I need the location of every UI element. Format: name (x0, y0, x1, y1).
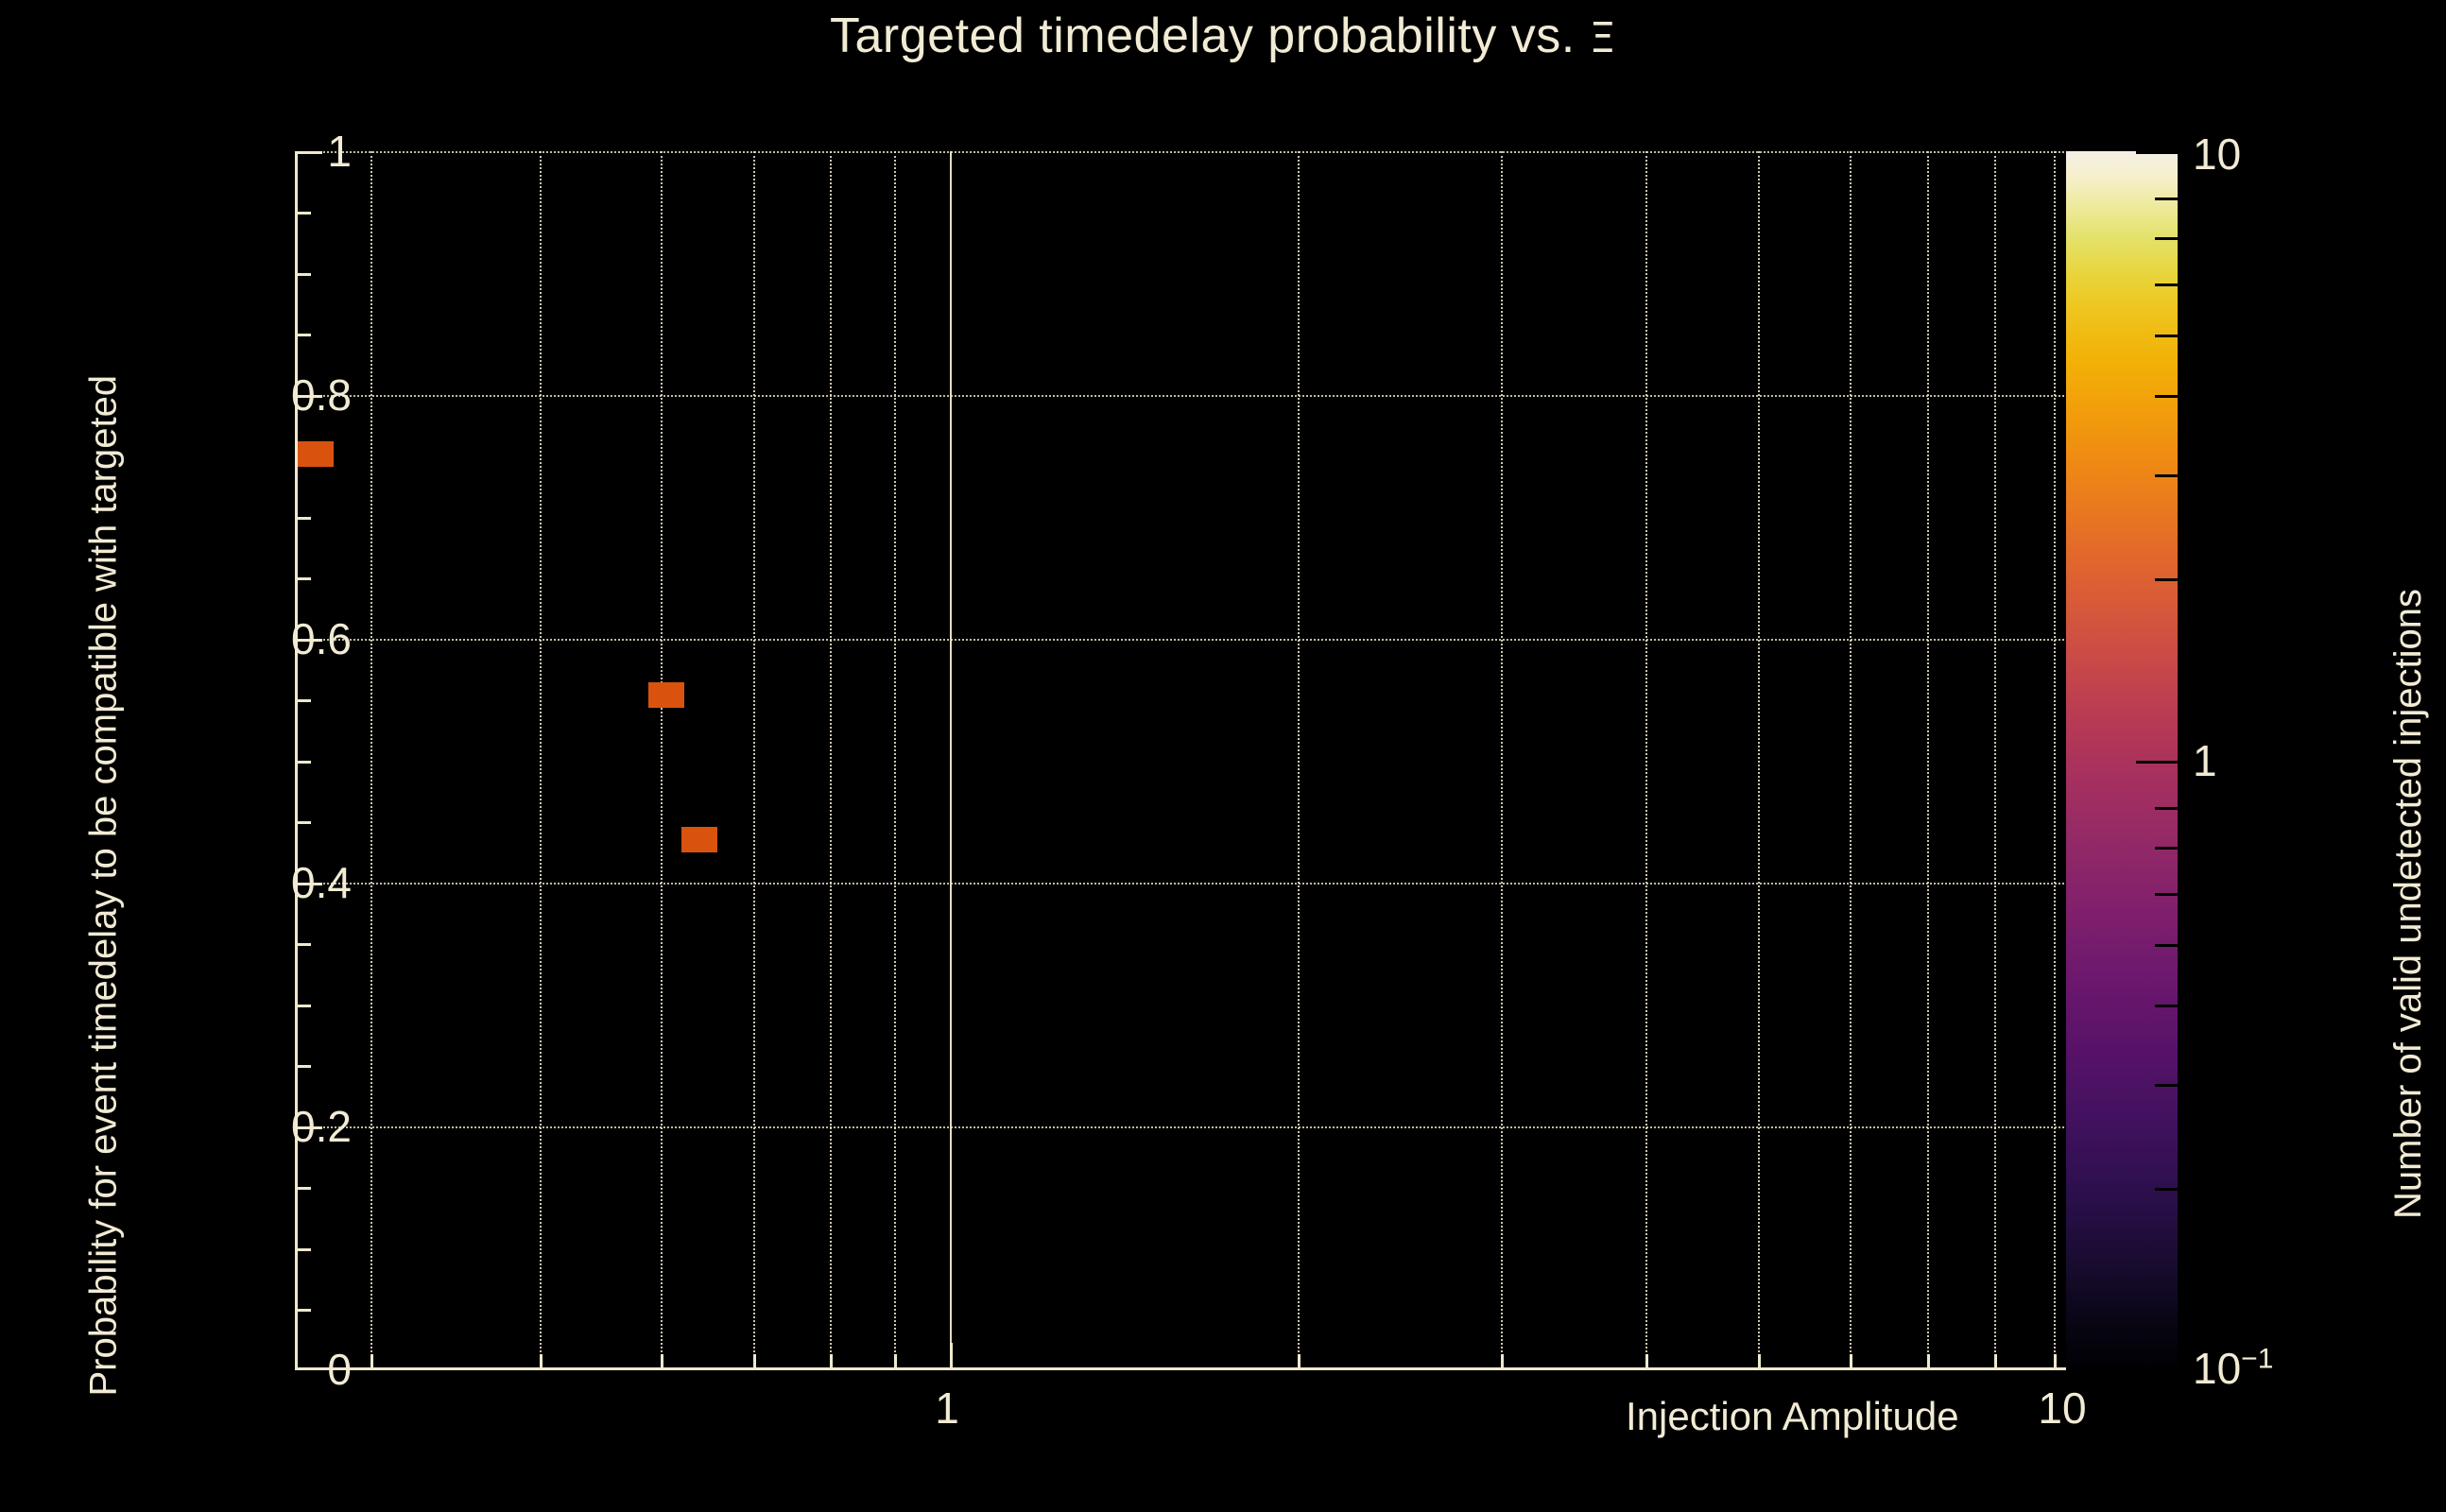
tick-y-minor (298, 699, 311, 702)
x-tick-label: 1 (935, 1383, 959, 1434)
colorbar-tick-minor (2155, 335, 2178, 337)
tick-y-minor (298, 821, 311, 824)
colorbar-tick-label: 1 (2193, 735, 2217, 786)
tick-x-minor (830, 1354, 833, 1367)
plot-frame (295, 151, 2079, 1370)
tick-x-minor (1501, 1354, 1504, 1367)
colorbar-tick-minor (2155, 198, 2178, 200)
colorbar-tick-minor (2155, 283, 2178, 286)
plot-canvas: Targeted timedelay probability vs. Ξ (0, 0, 2446, 1512)
tick-y-minor (298, 761, 311, 764)
gridline-y (298, 151, 2079, 153)
tick-x-minor (894, 1354, 897, 1367)
colorbar-tick-minor (2155, 944, 2178, 947)
tick-x-minor (2054, 1354, 2057, 1367)
y-tick-label: 1 (327, 126, 352, 177)
y-axis-title: Probability for event timedelay to be co… (79, 151, 129, 1370)
gridline-y (298, 639, 2079, 641)
gridline-x (661, 151, 663, 1367)
gridline-y (298, 395, 2079, 397)
y-tick-label: 0.8 (291, 369, 352, 421)
tick-x-minor (1298, 1354, 1301, 1367)
y-axis-title-text: Probability for event timedelay to be co… (83, 584, 126, 1397)
tick-y-minor (298, 1187, 311, 1190)
colorbar-tick-label-exponent: −1 (2241, 1344, 2273, 1375)
gridline-x (894, 151, 896, 1367)
tick-y-minor (298, 1309, 311, 1312)
y-tick-label: 0 (327, 1344, 352, 1395)
gridline-x (830, 151, 832, 1367)
tick-y-minor (298, 212, 311, 215)
gridline-x (1298, 151, 1300, 1367)
tick-x-minor (540, 1354, 543, 1367)
tick-y-minor (298, 943, 311, 946)
tick-x-minor (1758, 1354, 1761, 1367)
x-tick-label: 10 (2038, 1383, 2086, 1434)
gridline-x-major (950, 151, 952, 1367)
colorbar-tick-label-mantissa: 10 (2193, 1344, 2241, 1393)
page-title: Targeted timedelay probability vs. Ξ (0, 8, 2446, 64)
gridline-x (753, 151, 755, 1367)
colorbar-tick-minor (2155, 474, 2178, 477)
colorbar-tick-minor (2155, 578, 2178, 581)
data-point-marker (298, 441, 334, 467)
gridline-x (1501, 151, 1503, 1367)
tick-x-minor (661, 1354, 663, 1367)
gridline-y (298, 883, 2079, 885)
gridline-x (370, 151, 372, 1367)
tick-y-minor (298, 517, 311, 520)
data-point-marker (681, 827, 717, 852)
tick-x-minor (370, 1354, 373, 1367)
tick-y-minor (298, 273, 311, 276)
y-tick-label: 0.6 (291, 613, 352, 664)
tick-x-minor (1850, 1354, 1852, 1367)
colorbar-tick-minor (2155, 1084, 2178, 1087)
colorbar-tick-minor (2155, 847, 2178, 850)
colorbar-tick-minor (2155, 1005, 2178, 1007)
tick-x-minor (1645, 1354, 1648, 1367)
tick-y-minor (298, 1065, 311, 1068)
tick-x-major (950, 1343, 953, 1367)
y-tick-label: 0.4 (291, 857, 352, 908)
tick-y-minor (298, 334, 311, 336)
colorbar-tick-minor (2155, 395, 2178, 398)
tick-y-minor (298, 1005, 311, 1007)
tick-y-minor (298, 577, 311, 580)
data-point-marker (648, 682, 684, 708)
colorbar-title-text: Number of valid undetected injections (2387, 589, 2430, 1219)
gridline-x (1758, 151, 1760, 1367)
x-axis-title: Injection Amplitude (1626, 1394, 1959, 1439)
tick-x-minor (1994, 1354, 1997, 1367)
tick-x-minor (1927, 1354, 1930, 1367)
colorbar-tick-minor (2155, 893, 2178, 896)
colorbar-tick-label: 10 (2193, 129, 2241, 180)
gridline-x (2054, 151, 2056, 1367)
colorbar (2066, 151, 2178, 1370)
colorbar-tick-major (2136, 151, 2178, 154)
plot-area (298, 151, 2079, 1367)
gridline-x (1645, 151, 1647, 1367)
gridline-x (1850, 151, 1852, 1367)
tick-y-minor (298, 1248, 311, 1251)
gridline-x (540, 151, 542, 1367)
colorbar-tick-minor (2155, 807, 2178, 810)
colorbar-title: Number of valid undetected injections (2344, 151, 2391, 1370)
y-tick-label: 0.2 (291, 1101, 352, 1152)
colorbar-tick-label: 10−1 (2193, 1343, 2273, 1394)
tick-y-major (298, 151, 322, 154)
title-text: Targeted timedelay probability vs. (830, 9, 1590, 63)
title-symbol-xi: Ξ (1590, 14, 1616, 62)
tick-x-minor (753, 1354, 756, 1367)
gridline-x (1927, 151, 1929, 1367)
colorbar-tick-minor (2155, 1188, 2178, 1191)
gridline-x (1994, 151, 1996, 1367)
colorbar-tick-major (2136, 761, 2178, 764)
colorbar-tick-minor (2155, 237, 2178, 240)
gridline-y (298, 1126, 2079, 1128)
